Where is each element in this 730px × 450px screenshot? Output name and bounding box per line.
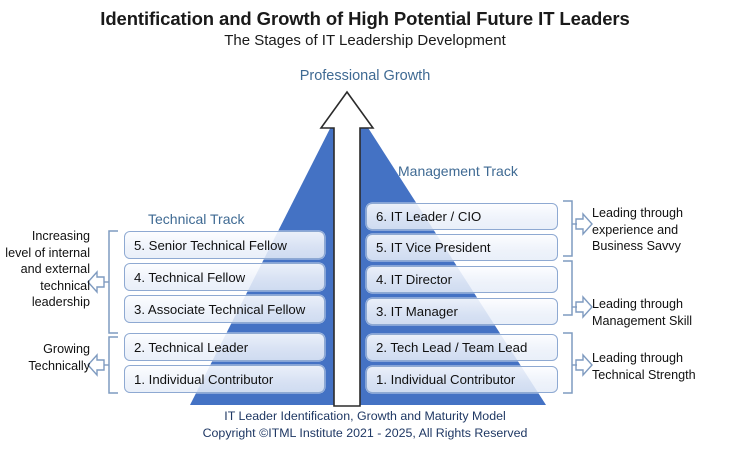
diagram-canvas: Identification and Growth of High Potent…	[0, 0, 730, 450]
footer-model-name: IT Leader Identification, Growth and Mat…	[0, 408, 730, 425]
management-stage-6[interactable]: 6. IT Leader / CIO	[366, 203, 558, 230]
left-bracket-upper	[109, 231, 118, 333]
management-track-label: Management Track	[398, 163, 518, 179]
annotation-leading-through-experience: Leading through experience and Business …	[592, 205, 727, 255]
annotation-increasing-technical-leadership: Increasing level of internal and externa…	[4, 228, 90, 311]
technical-stage-1[interactable]: 1. Individual Contributor	[124, 365, 325, 393]
footer-copyright: Copyright ©ITML Institute 2021 - 2025, A…	[0, 425, 730, 442]
management-stage-3[interactable]: 3. IT Manager	[366, 298, 558, 325]
management-stage-1[interactable]: 1. Individual Contributor	[366, 366, 558, 393]
management-stage-1-label: 1. Individual Contributor	[376, 372, 515, 387]
management-stage-3-label: 3. IT Manager	[376, 304, 458, 319]
management-stage-4-label: 4. IT Director	[376, 272, 452, 287]
technical-stage-4-label: 4. Technical Fellow	[134, 270, 245, 285]
annotation-growing-technically: Growing Technically	[4, 341, 90, 374]
technical-stage-3[interactable]: 3. Associate Technical Fellow	[124, 295, 325, 323]
technical-stage-2-label: 2. Technical Leader	[134, 340, 248, 355]
arrow-left-icon-upper	[88, 272, 109, 292]
right-bracket-bottom	[563, 333, 572, 393]
left-bracket-lower	[109, 337, 118, 393]
technical-stage-3-label: 3. Associate Technical Fellow	[134, 302, 305, 317]
technical-stage-1-label: 1. Individual Contributor	[134, 372, 273, 387]
technical-stage-4[interactable]: 4. Technical Fellow	[124, 263, 325, 291]
technical-track-label: Technical Track	[148, 211, 244, 227]
arrow-right-icon-top	[572, 214, 592, 234]
arrow-right-icon-middle	[572, 297, 592, 317]
annotation-leading-through-management-skill: Leading through Management Skill	[592, 296, 727, 329]
management-stage-4[interactable]: 4. IT Director	[366, 266, 558, 293]
management-stage-5[interactable]: 5. IT Vice President	[366, 234, 558, 261]
technical-stage-5[interactable]: 5. Senior Technical Fellow	[124, 231, 325, 259]
right-bracket-top	[563, 201, 572, 256]
management-stage-2-label: 2. Tech Lead / Team Lead	[376, 340, 527, 355]
technical-stage-5-label: 5. Senior Technical Fellow	[134, 238, 287, 253]
right-bracket-middle	[563, 261, 572, 315]
management-stage-5-label: 5. IT Vice President	[376, 240, 491, 255]
footer: IT Leader Identification, Growth and Mat…	[0, 408, 730, 442]
management-stage-6-label: 6. IT Leader / CIO	[376, 209, 481, 224]
management-stage-2[interactable]: 2. Tech Lead / Team Lead	[366, 334, 558, 361]
arrow-left-icon-lower	[88, 355, 109, 375]
arrow-right-icon-bottom	[572, 355, 592, 375]
technical-stage-2[interactable]: 2. Technical Leader	[124, 333, 325, 361]
annotation-leading-through-technical-strength: Leading through Technical Strength	[592, 350, 727, 383]
